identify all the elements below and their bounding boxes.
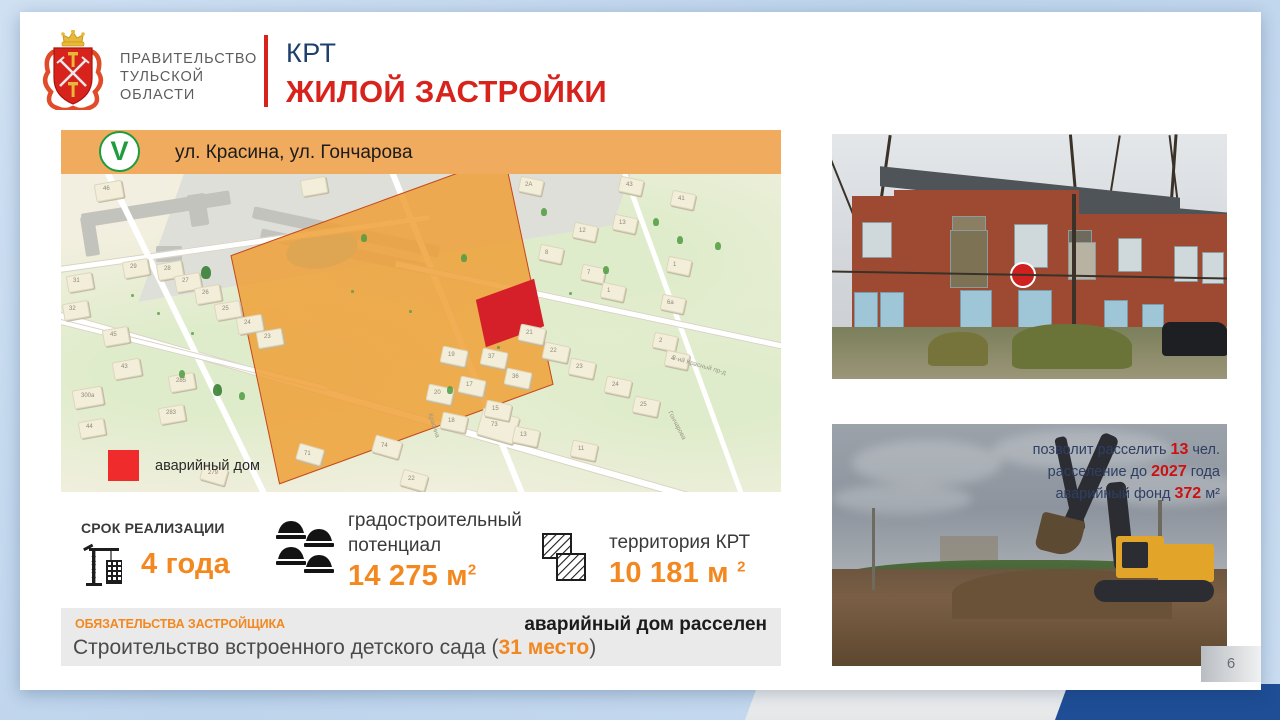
slide-canvas: ПРАВИТЕЛЬСТВО ТУЛЬСКОЙ ОБЛАСТИ КРТ ЖИЛОЙ…: [20, 12, 1261, 690]
figure-territory-unit: 2: [737, 558, 746, 575]
stat-prefix: позволит расселить: [1033, 442, 1171, 458]
photo2-cloud: [832, 484, 972, 514]
map-building-number: 2А: [525, 182, 532, 188]
gov-line-1: ПРАВИТЕЛЬСТВО: [120, 50, 257, 68]
figure-territory-value: 10 181 м 2: [609, 557, 750, 590]
map-building-number: 28: [164, 266, 171, 272]
stat-value: 372: [1174, 485, 1201, 502]
map-building-number: 43: [121, 364, 128, 370]
address-label: ул. Красина, ул. Гончарова: [175, 142, 413, 164]
photo2-excavator-cab-window: [1122, 542, 1148, 568]
variant-badge-letter: V: [101, 133, 138, 169]
hard-hats-icon: [276, 515, 338, 587]
map-tree: [361, 234, 367, 242]
figure-potential-label-1: градостроительный: [348, 508, 522, 533]
map-building-number: 36: [512, 374, 519, 380]
map-building-number: 73: [491, 422, 498, 428]
figure-term-value: 4 года: [141, 548, 230, 581]
legend-emergency-color-swatch: [108, 450, 139, 481]
page-number: 6: [1201, 646, 1261, 682]
gov-line-3: ОБЛАСТИ: [120, 86, 257, 104]
photo1-boarded-window: [854, 292, 878, 328]
map-building-number: 12: [579, 228, 586, 234]
figure-territory-number: 10 181 м: [609, 557, 729, 589]
map-building-number: 25: [640, 402, 647, 408]
photo1-window: [862, 222, 892, 258]
figure-potential-unit: 2: [468, 561, 477, 578]
map-building-number: 74: [381, 443, 388, 449]
photo1-utility-pole: [1072, 194, 1076, 334]
map-building-number: 15: [492, 406, 499, 412]
map-building-number: 41: [678, 196, 685, 202]
map-building-number: 46: [103, 186, 110, 192]
map-building-number: 44: [86, 424, 93, 430]
photo1-window: [950, 230, 988, 288]
obligations-text-after: ): [589, 636, 596, 659]
map-building-number: 32: [69, 306, 76, 312]
map-building-number: 13: [619, 220, 626, 226]
title-krt: КРТ: [286, 38, 337, 69]
photo1-car: [1162, 322, 1227, 356]
map-tree: [603, 266, 609, 274]
map-building-number: 1: [607, 288, 610, 294]
map-building-number: 285: [176, 378, 186, 384]
map-building-number: 300а: [81, 393, 94, 399]
map-tree: [213, 384, 222, 396]
map-building-number: 1: [673, 262, 676, 268]
figure-potential-label-2: потенциал: [348, 533, 522, 558]
map-building-number: 6а: [667, 300, 674, 306]
map-tree: [677, 236, 683, 244]
legend-emergency-label: аварийный дом: [155, 458, 260, 474]
map-building-number: 25: [222, 306, 229, 312]
territory-hatched-icon: [541, 532, 599, 588]
site-map[interactable]: 46 43 41 31 32 29 28 27 26 25 24 23 45 4…: [61, 174, 781, 492]
figure-development-potential: градостроительный потенциал 14 275 м2: [276, 508, 522, 593]
map-building-number: 21: [526, 330, 533, 336]
map-tree: [461, 254, 467, 262]
page-number-box: 6: [1201, 646, 1261, 682]
title-divider: [264, 35, 268, 107]
map-building-number: 24: [244, 320, 251, 326]
map-building-number: 18: [448, 418, 455, 424]
stat-value: 2027: [1151, 463, 1187, 480]
figure-potential-number: 14 275 м: [348, 560, 468, 592]
stat-suffix: чел.: [1188, 442, 1220, 458]
obligations-note: аварийный дом расселен: [524, 614, 767, 636]
map-tree: [201, 266, 211, 279]
map-tree: [715, 242, 721, 250]
government-name: ПРАВИТЕЛЬСТВО ТУЛЬСКОЙ ОБЛАСТИ: [120, 50, 257, 104]
key-figures-row: СРОК РЕАЛИЗАЦИИ: [61, 502, 781, 598]
figure-term-caption: СРОК РЕАЛИЗАЦИИ: [81, 520, 230, 536]
map-building-number: 22: [408, 476, 415, 482]
map-vegetation-dot: [351, 290, 354, 293]
gov-line-2: ТУЛЬСКОЙ: [120, 68, 257, 86]
map-building-number: 2: [659, 338, 662, 344]
map-tree: [653, 218, 659, 226]
map-tree: [447, 386, 453, 394]
map-vegetation-dot: [497, 346, 500, 349]
stat-suffix: года: [1187, 464, 1220, 480]
map-building-number: 19: [448, 352, 455, 358]
map-tree: [541, 208, 547, 216]
figure-term: СРОК РЕАЛИЗАЦИИ: [81, 520, 230, 586]
map-building-number: 37: [488, 354, 495, 360]
map-tree: [239, 392, 245, 400]
map-building-number: 11: [578, 446, 584, 452]
map-building-number: 7: [587, 270, 590, 276]
map-tree: [179, 370, 185, 378]
map-building-number: 23: [264, 334, 271, 340]
photo2-utility-pole: [872, 508, 875, 590]
developer-obligations-panel: ОБЯЗАТЕЛЬСТВА ЗАСТРОЙЩИКА аварийный дом …: [61, 608, 781, 666]
obligations-text: Строительство встроенного детского сада …: [73, 636, 596, 660]
stat-suffix: м²: [1201, 486, 1220, 502]
obligations-caption: ОБЯЗАТЕЛЬСТВА ЗАСТРОЙЩИКА: [75, 617, 285, 631]
photo1-bush: [1012, 324, 1132, 369]
figure-territory-label: территория КРТ: [609, 530, 750, 555]
photo1-window: [1118, 238, 1142, 272]
map-building-number: 27: [182, 278, 189, 284]
stat-value: 13: [1171, 441, 1189, 458]
stat-resettle-people: позволит расселить 13 чел.: [960, 439, 1220, 461]
map-vegetation-dot: [131, 294, 134, 297]
photo1-bush: [928, 332, 988, 366]
figure-krt-territory: территория КРТ 10 181 м 2: [541, 530, 750, 590]
map-building-number: 22: [550, 348, 557, 354]
photo2-excavator-track: [1094, 580, 1214, 602]
map-building-number: 20: [434, 390, 441, 396]
map-building-number: 283: [166, 410, 176, 416]
stat-emergency-fund: аварийный фонд 372 м²: [960, 483, 1220, 505]
variant-badge-v: V: [99, 131, 140, 172]
obligations-text-before: Строительство встроенного детского сада …: [73, 636, 499, 659]
map-vegetation-dot: [157, 312, 160, 315]
map-building-number: 13: [520, 432, 527, 438]
map-building-number: 17: [466, 382, 473, 388]
crane-icon: [81, 542, 133, 586]
map-building-number: 26: [202, 290, 209, 296]
map-vegetation-dot: [409, 310, 412, 313]
map-statistics: позволит расселить 13 чел. расселение до…: [960, 439, 1220, 505]
map-building-number: 23: [576, 364, 583, 370]
stat-prefix: аварийный фонд: [1055, 486, 1174, 502]
obligations-highlight: 31 место: [499, 636, 590, 659]
map-building-number: 8: [545, 250, 548, 256]
page-title: ЖИЛОЙ ЗАСТРОЙКИ: [286, 74, 607, 110]
photo-emergency-brick-house: [832, 134, 1227, 379]
stat-prefix: расселение до: [1048, 464, 1152, 480]
photo1-boarded-window: [880, 292, 904, 328]
map-vegetation-dot: [191, 332, 194, 335]
map-building-number: 31: [73, 278, 80, 284]
stat-resettle-year: расселение до 2027 года: [960, 461, 1220, 483]
map-vegetation-dot: [569, 292, 572, 295]
map-building-number: 71: [304, 451, 311, 457]
map-building-number: 45: [110, 332, 117, 338]
photo1-window: [1202, 252, 1224, 284]
map-building-number: 24: [612, 382, 619, 388]
map-building-number: 43: [626, 182, 633, 188]
photo2-excavator-counterweight: [1158, 544, 1214, 582]
map-building-number: 29: [130, 264, 137, 270]
address-band: [61, 130, 781, 174]
slide-header: ПРАВИТЕЛЬСТВО ТУЛЬСКОЙ ОБЛАСТИ КРТ ЖИЛОЙ…: [20, 12, 1261, 122]
tula-oblast-coat-of-arms-icon: [39, 30, 107, 110]
figure-potential-value: 14 275 м2: [348, 560, 522, 593]
